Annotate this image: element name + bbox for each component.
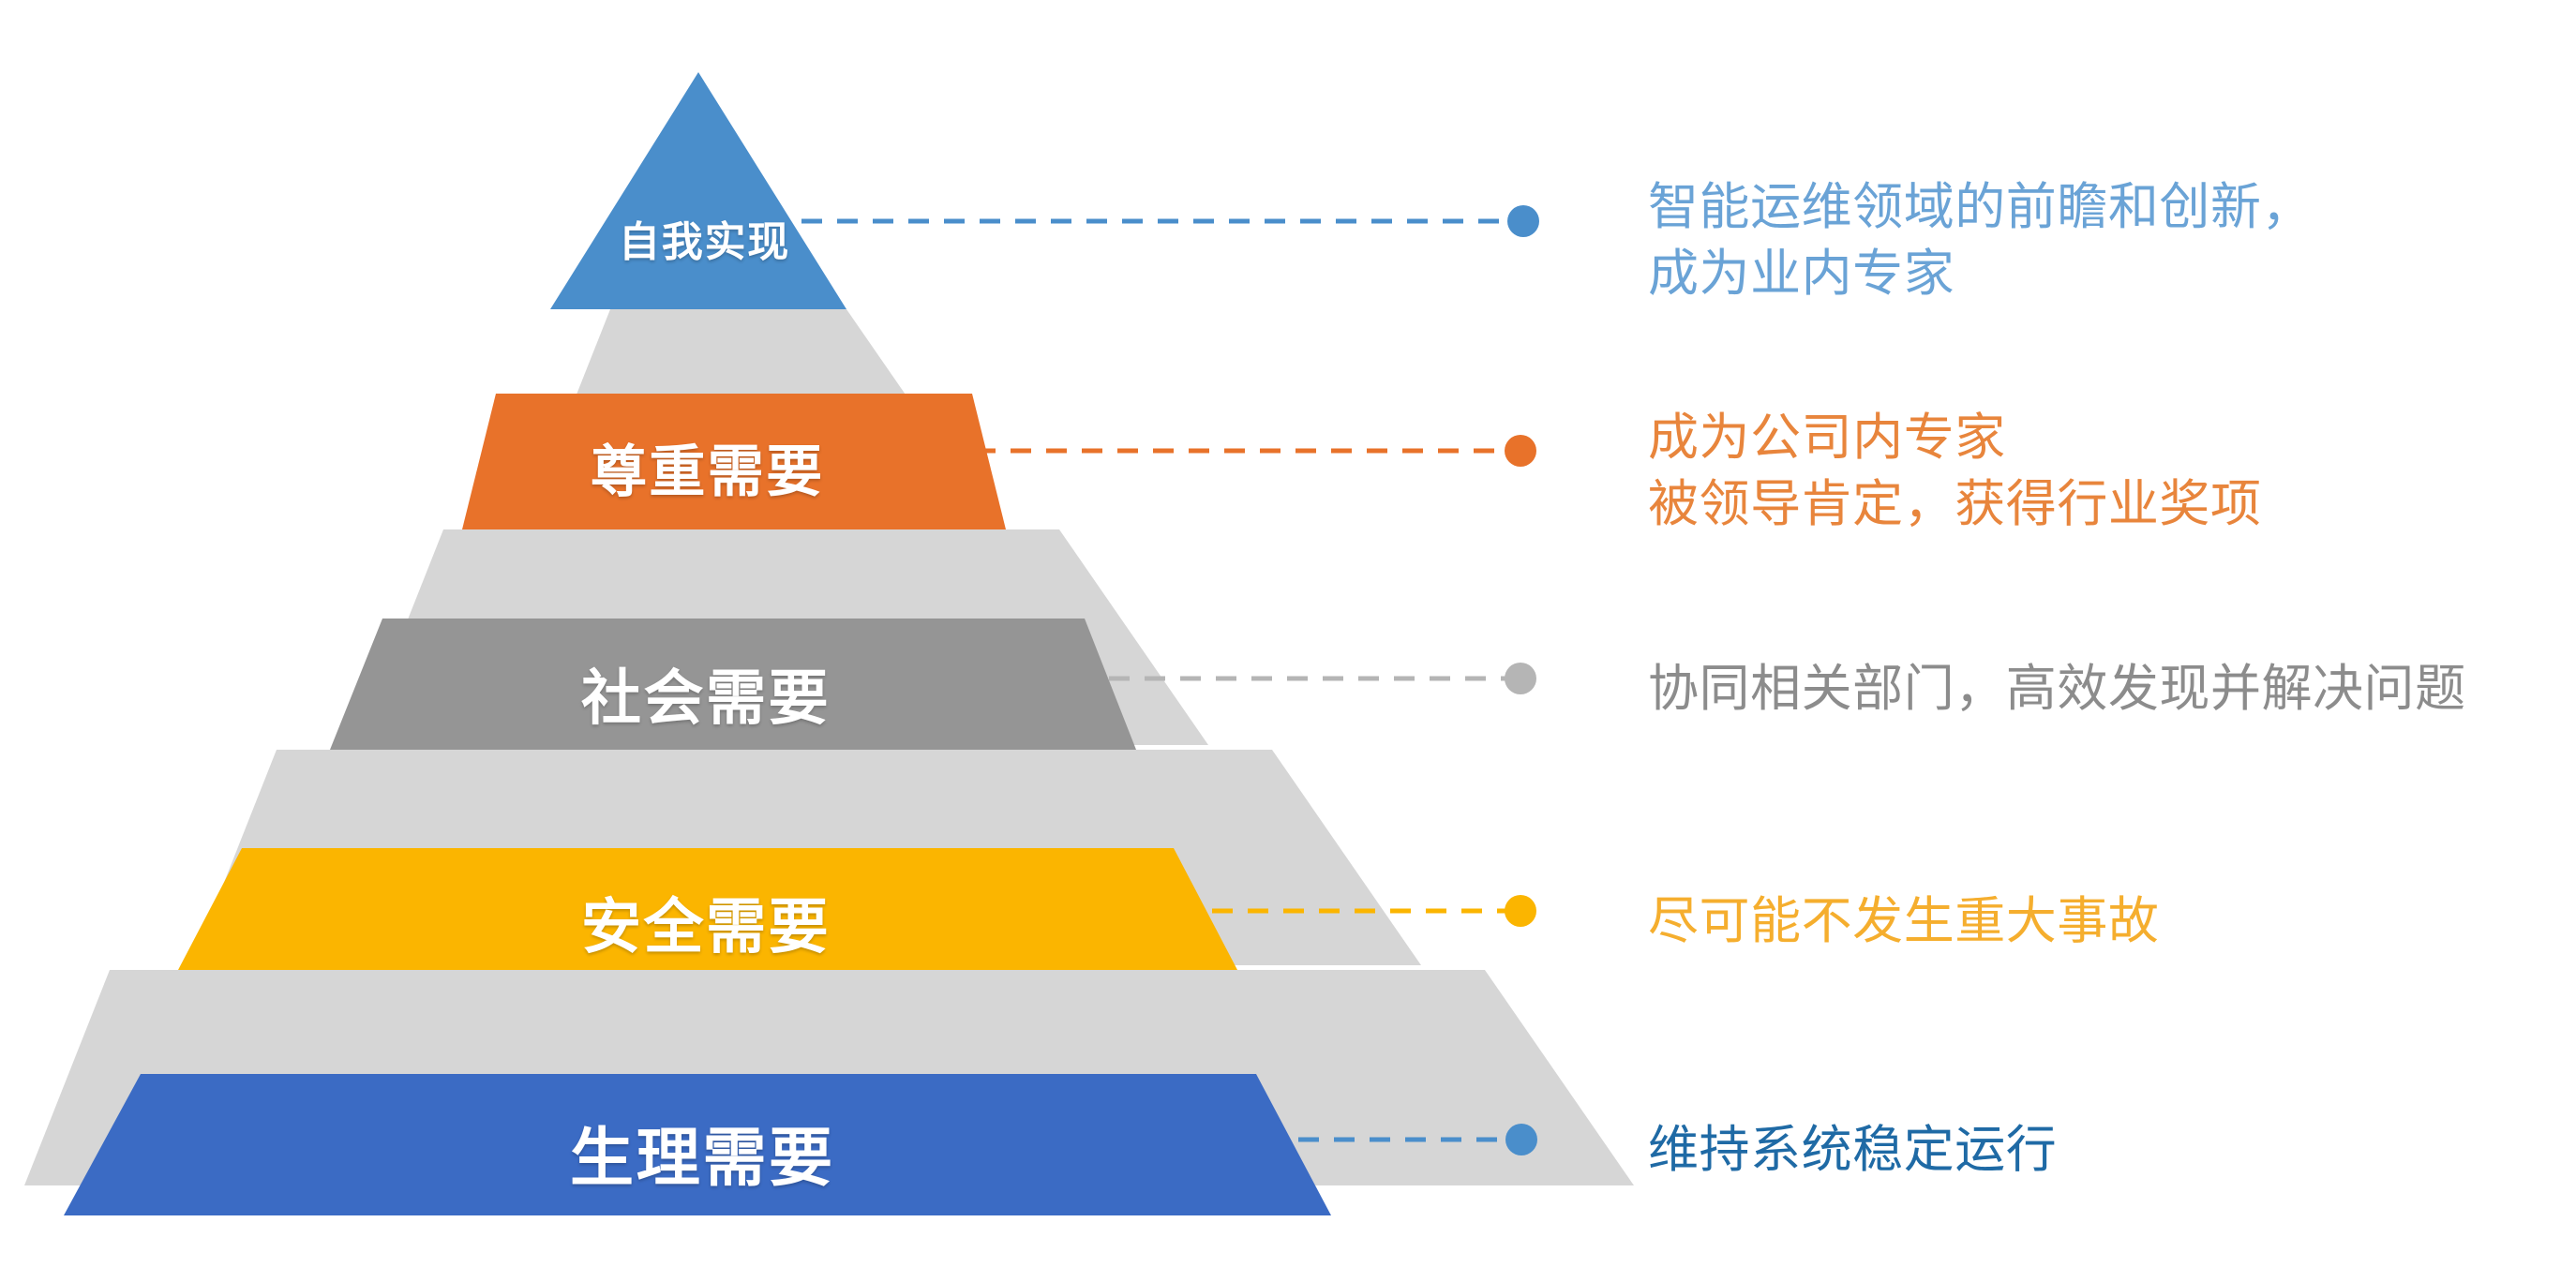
connector-dot-social xyxy=(1505,663,1536,694)
connector-dot-safety xyxy=(1505,895,1536,927)
pyramid-diagram: 自我实现 尊重需要 社会需要 安全需要 生理需要 智能运维领域的前瞻和创新， 成… xyxy=(0,0,2576,1282)
description-physiological: 维持系统稳定运行 xyxy=(1648,1117,2057,1184)
tier-physiological[interactable] xyxy=(64,1074,1331,1215)
description-esteem: 成为公司内专家 被领导肯定，获得行业奖项 xyxy=(1648,405,2261,539)
connector-dot-esteem xyxy=(1505,435,1536,467)
tier-self-actualization[interactable] xyxy=(550,72,846,309)
description-social: 协同相关部门，高效发现并解决问题 xyxy=(1648,656,2466,723)
description-safety: 尽可能不发生重大事故 xyxy=(1648,888,2159,955)
tier-social[interactable] xyxy=(330,619,1136,750)
connector-dot-physiological xyxy=(1505,1124,1537,1155)
description-self-actualization: 智能运维领域的前瞻和创新， 成为业内专家 xyxy=(1648,174,2313,308)
connector-dot-self-actualization xyxy=(1507,205,1539,237)
tier-safety[interactable] xyxy=(178,848,1237,970)
tier-esteem[interactable] xyxy=(462,394,1006,529)
